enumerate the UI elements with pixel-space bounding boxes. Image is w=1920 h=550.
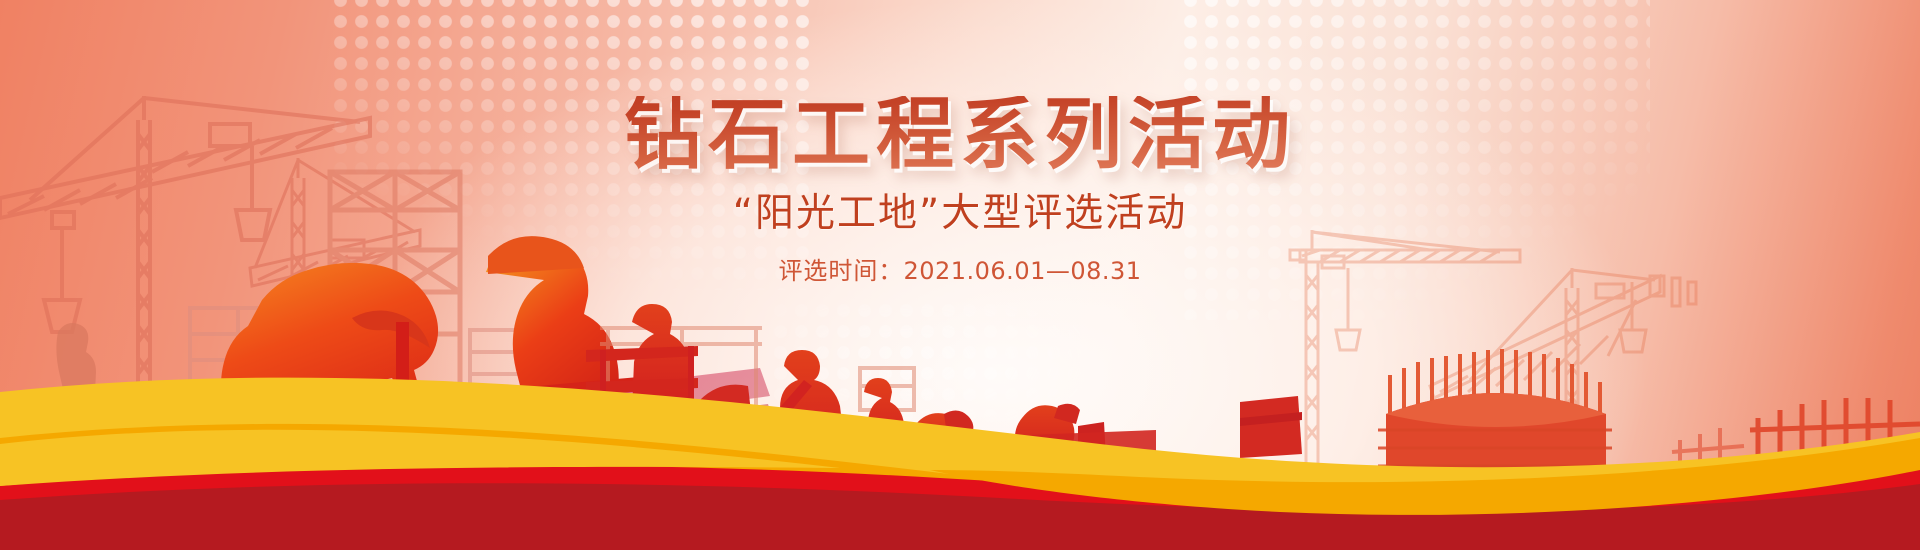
date-value: 2021.06.01—08.31 (903, 257, 1141, 285)
date-label: 评选时间： (778, 257, 903, 285)
banner-subtitle: “阳光工地”大型评选活动 (0, 194, 1920, 233)
promo-banner: 钻石工程系列活动 “阳光工地”大型评选活动 评选时间：2021.06.01—08… (0, 0, 1920, 550)
banner-title: 钻石工程系列活动 (0, 96, 1920, 174)
banner-date-row: 评选时间：2021.06.01—08.31 (0, 259, 1920, 283)
banner-copy: 钻石工程系列活动 “阳光工地”大型评选活动 评选时间：2021.06.01—08… (0, 96, 1920, 283)
